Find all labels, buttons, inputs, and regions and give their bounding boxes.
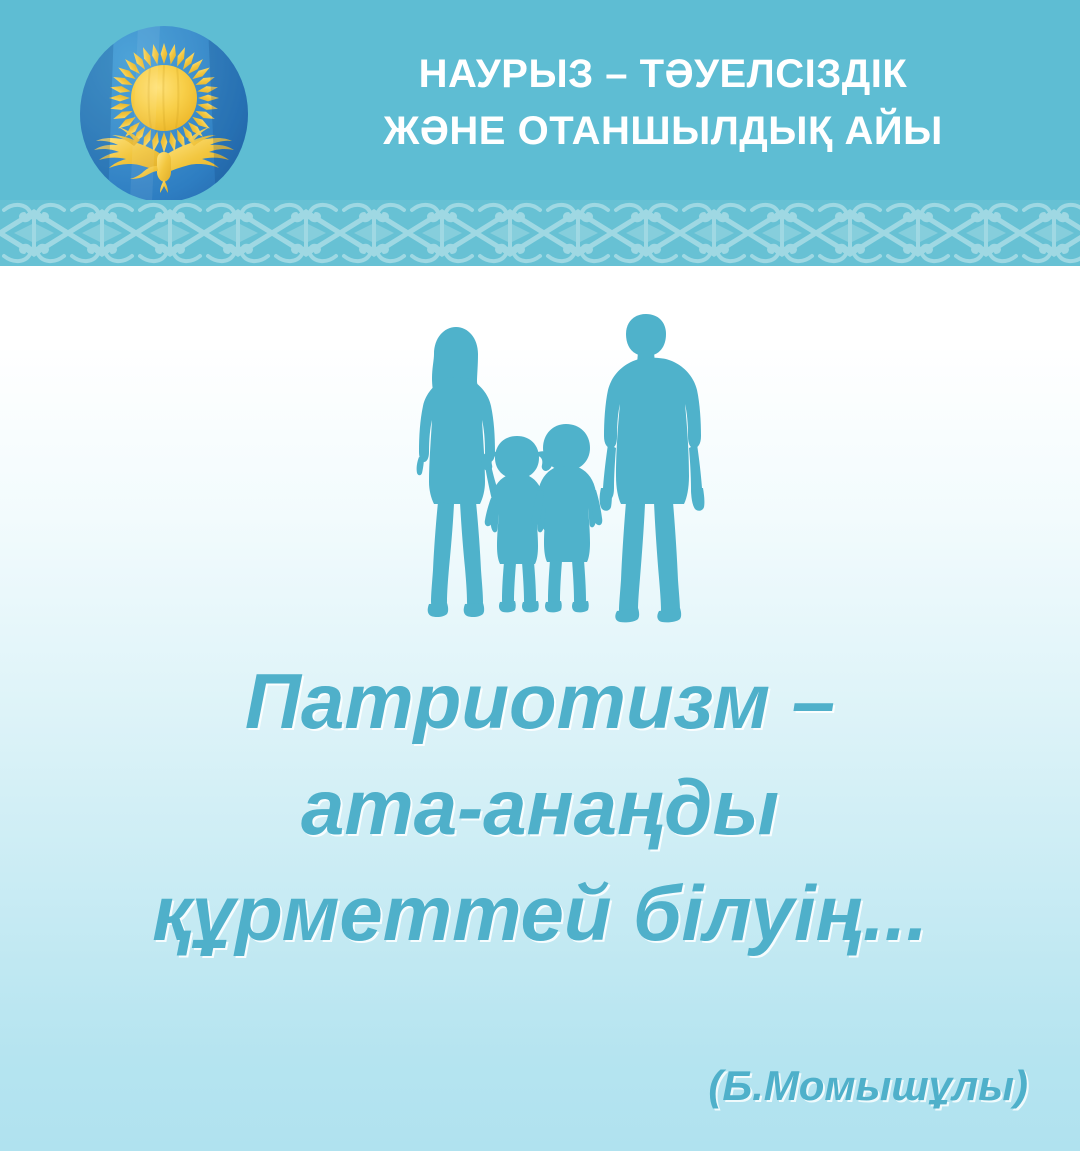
mother-figure bbox=[417, 327, 504, 617]
kazakhstan-flag-emblem-icon bbox=[80, 26, 248, 200]
kazakh-ornament-band bbox=[0, 200, 1080, 266]
family-silhouette-illustration bbox=[398, 312, 728, 624]
quote-line-3: құрметтей білуің... bbox=[0, 860, 1080, 966]
page-title: НАУРЫЗ – ТӘУЕЛСІЗДІК ЖӘНЕ ОТАНШЫЛДЫҚ АЙЫ bbox=[268, 46, 1058, 160]
quote-text: Патриотизм – ата-анаңды құрметтей білуің… bbox=[0, 648, 1080, 966]
quote-line-2: ата-анаңды bbox=[0, 754, 1080, 860]
quote-line-1: Патриотизм – bbox=[0, 648, 1080, 754]
poster-canvas: НАУРЫЗ – ТӘУЕЛСІЗДІК ЖӘНЕ ОТАНШЫЛДЫҚ АЙЫ bbox=[0, 0, 1080, 1151]
header-banner: НАУРЫЗ – ТӘУЕЛСІЗДІК ЖӘНЕ ОТАНШЫЛДЫҚ АЙЫ bbox=[0, 0, 1080, 200]
quote-attribution: (Б.Момышұлы) bbox=[708, 1062, 1028, 1110]
header-title-line-2: ЖӘНЕ ОТАНШЫЛДЫҚ АЙЫ bbox=[268, 103, 1058, 160]
father-figure bbox=[600, 314, 705, 622]
header-title-line-1: НАУРЫЗ – ТӘУЕЛСІЗДІК bbox=[268, 46, 1058, 103]
